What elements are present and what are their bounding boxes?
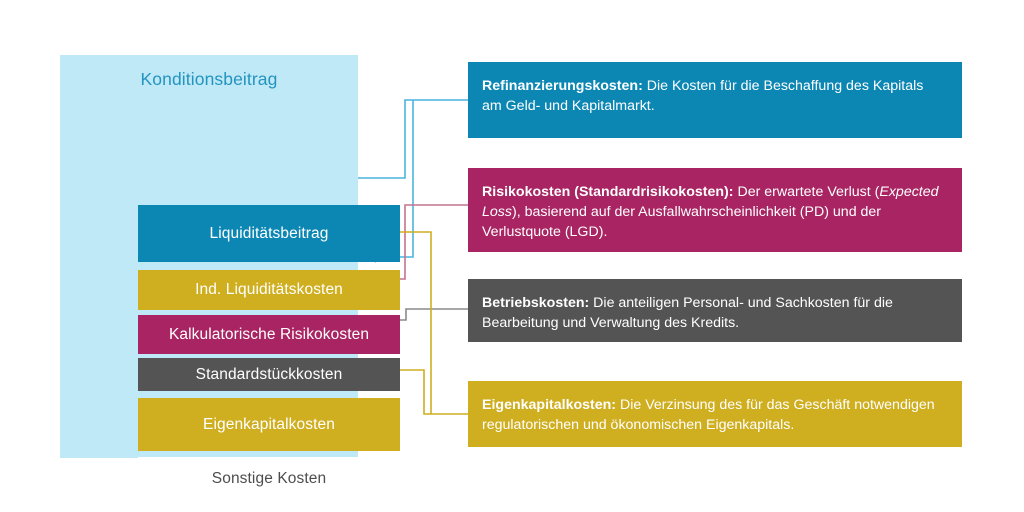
callout-eigenkapitalkosten: Eigenkapitalkosten: Die Verzinsung des f… xyxy=(468,381,962,447)
callout-body-pre: Der erwartete Verlust ( xyxy=(734,184,880,200)
diagram-canvas: Konditionsbeitrag Liquiditätsbeitrag Ind… xyxy=(0,0,1024,512)
stack-bar-label: Ind. Liquiditätskosten xyxy=(195,281,343,299)
callout-betriebskosten: Betriebskosten: Die anteiligen Personal-… xyxy=(468,279,962,342)
callout-term: Betriebskosten: xyxy=(482,295,589,311)
stack-bar-eigenkapitalkosten[interactable]: Eigenkapitalkosten xyxy=(138,398,400,451)
page-title: Konditionsbeitrag xyxy=(60,69,358,90)
callout-risikokosten: Risikokosten (Standardrisikokosten): Der… xyxy=(468,168,962,252)
callout-term: Risikokosten (Standardrisikokosten): xyxy=(482,184,734,200)
stack-bar-kalkulatorische-risikokosten[interactable]: Kalkulatorische Risikokosten xyxy=(138,315,400,354)
callout-refinanzierungskosten: Refinanzierungskosten: Die Kosten für di… xyxy=(468,62,962,138)
stack-bar-label: Sonstige Kosten xyxy=(212,470,326,488)
stack-bar-label: Kalkulatorische Risikokosten xyxy=(169,326,369,344)
konditionsbeitrag-container: Konditionsbeitrag Liquiditätsbeitrag Ind… xyxy=(60,55,358,458)
stack-bar-ind-liquiditaetskosten[interactable]: Ind. Liquiditätskosten xyxy=(138,270,400,310)
callout-body-post: ), basierend auf der Ausfallwahrscheinli… xyxy=(482,204,881,240)
callout-term: Eigenkapitalkosten: xyxy=(482,397,616,413)
stack-bar-liquiditaetsbeitrag[interactable]: Liquiditätsbeitrag xyxy=(138,205,400,262)
stack-bar-label: Eigenkapitalkosten xyxy=(203,416,335,434)
stack-bar-label: Standardstückkosten xyxy=(196,366,343,384)
stack-bar-standardstueckkosten[interactable]: Standardstückkosten xyxy=(138,358,400,391)
stack-bar-label: Liquiditätsbeitrag xyxy=(210,225,329,243)
callout-term: Refinanzierungskosten: xyxy=(482,78,643,94)
stack-bar-sonstige-kosten[interactable]: Sonstige Kosten xyxy=(138,457,400,501)
